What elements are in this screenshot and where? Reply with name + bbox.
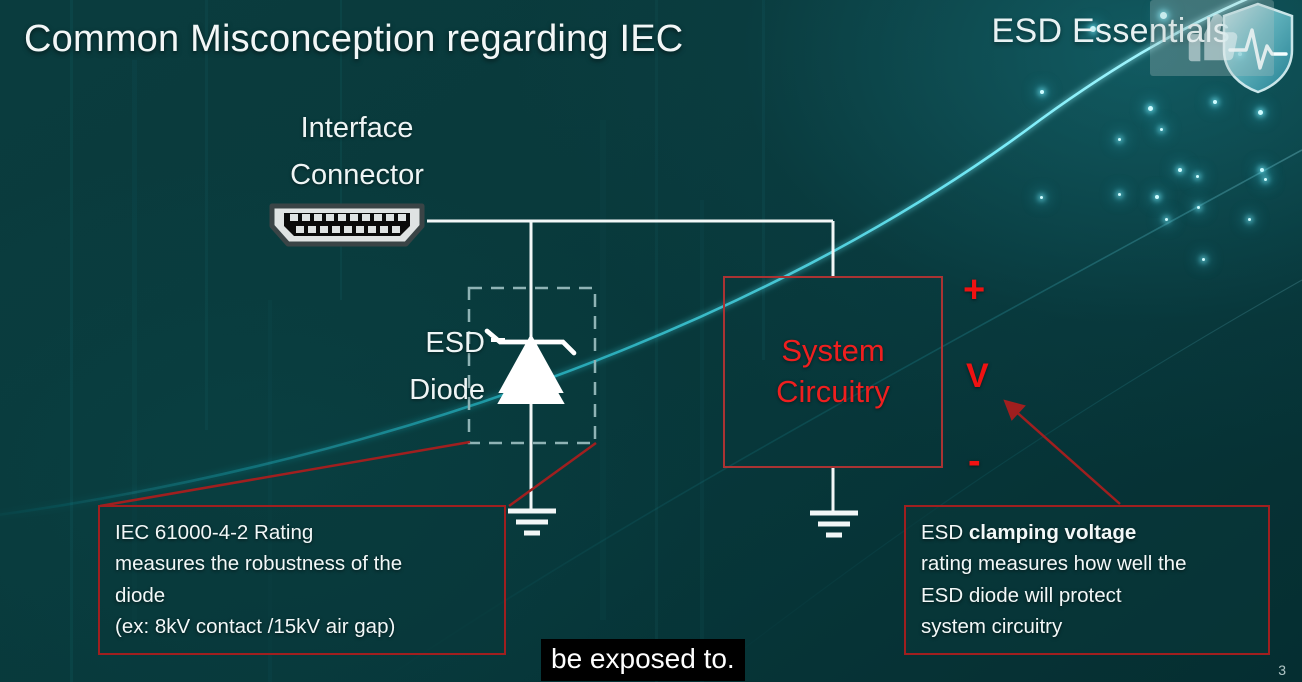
slide-title: Common Misconception regarding IEC <box>24 18 683 61</box>
callout-iec-rating: IEC 61000-4-2 Rating measures the robust… <box>98 505 506 655</box>
hdmi-connector-icon <box>268 202 426 248</box>
voltage-marker: V <box>966 357 989 396</box>
callout-right-line-1: ESD clamping voltage <box>921 517 1254 548</box>
callout-left-line-3: diode <box>115 580 490 611</box>
callout-left-line-1: IEC 61000-4-2 Rating <box>115 517 490 548</box>
page-number: 3 <box>1278 662 1286 678</box>
interface-connector-label: Interface Connector <box>262 105 452 199</box>
callout-right-line-3: ESD diode will protect <box>921 580 1254 611</box>
callout-right-line-2: rating measures how well the <box>921 548 1254 579</box>
thumbs-up-icon[interactable] <box>1150 0 1274 76</box>
minus-marker: - <box>968 440 981 483</box>
callout-clamping-voltage: ESD clamping voltage rating measures how… <box>904 505 1270 655</box>
callout-left-line-4: (ex: 8kV contact /15kV air gap) <box>115 611 490 642</box>
plus-marker: + <box>963 269 985 312</box>
system-circuitry-box: System Circuitry <box>723 276 943 468</box>
video-caption: be exposed to. <box>541 639 745 681</box>
callout-right-prefix: ESD <box>921 521 969 544</box>
esd-diode-label: ESD Diode <box>345 320 485 414</box>
slide-canvas: Common Misconception regarding IEC ESD E… <box>0 0 1302 682</box>
system-circuitry-label: System Circuitry <box>776 331 890 413</box>
callout-right-emphasis: clamping voltage <box>969 521 1136 544</box>
callout-right-line-4: system circuitry <box>921 611 1254 642</box>
callout-left-line-2: measures the robustness of the <box>115 548 490 579</box>
